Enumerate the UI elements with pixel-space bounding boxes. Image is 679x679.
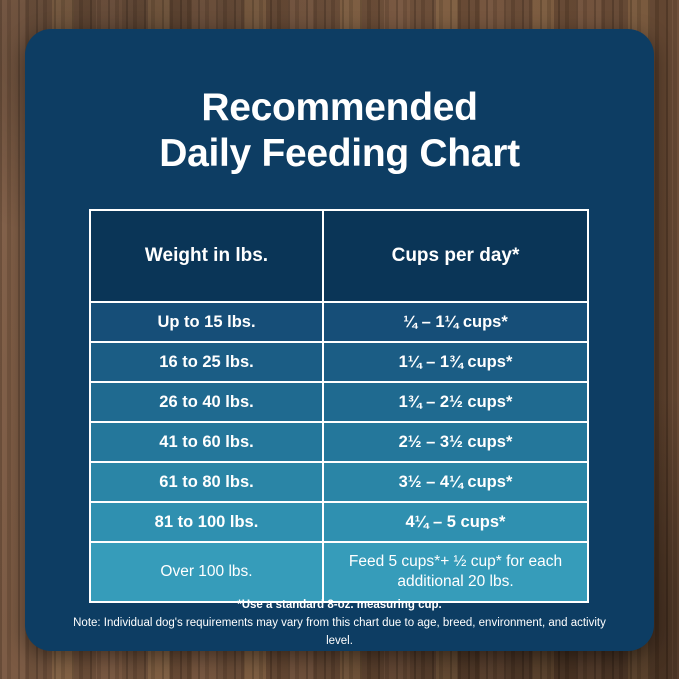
footnote-variation: Note: Individual dog's requirements may … [63,615,616,651]
column-header-weight: Weight in lbs. [91,211,324,303]
feeding-chart-card: Recommended Daily Feeding Chart Weight i… [25,29,654,651]
table-row: Over 100 lbs. Feed 5 cups*+ ½ cup* for e… [91,543,587,601]
cell-cups: ¼ – 1¼ cups* [324,303,587,343]
footnotes: *Use a standard 8-oz. measuring cup. Not… [63,597,616,651]
table-row: 61 to 80 lbs. 3½ – 4¼ cups* [91,463,587,503]
cell-cups: 3½ – 4¼ cups* [324,463,587,503]
cell-cups: 1¾ – 2½ cups* [324,383,587,423]
feeding-table: Weight in lbs. Cups per day* Up to 15 lb… [89,209,589,603]
footnote-measuring-cup: *Use a standard 8-oz. measuring cup. [63,597,616,615]
cell-cups: Feed 5 cups*+ ½ cup* for each additional… [324,543,587,601]
table-row: 16 to 25 lbs. 1¼ – 1¾ cups* [91,343,587,383]
cell-weight: Over 100 lbs. [91,543,324,601]
cell-weight: 41 to 60 lbs. [91,423,324,463]
footnote-veterinarian: Adjust food as required to maintain opti… [63,650,616,651]
table-row: 41 to 60 lbs. 2½ – 3½ cups* [91,423,587,463]
table-row: 26 to 40 lbs. 1¾ – 2½ cups* [91,383,587,423]
cell-weight: 61 to 80 lbs. [91,463,324,503]
title-line-1: Recommended [201,86,477,129]
cell-cups: 1¼ – 1¾ cups* [324,343,587,383]
table-row: Up to 15 lbs. ¼ – 1¼ cups* [91,303,587,343]
table-header-row: Weight in lbs. Cups per day* [91,211,587,303]
page-title: Recommended Daily Feeding Chart [25,85,654,176]
cell-weight: 16 to 25 lbs. [91,343,324,383]
title-line-2: Daily Feeding Chart [25,131,654,177]
table-row: 81 to 100 lbs. 4¼ – 5 cups* [91,503,587,543]
cell-cups: 4¼ – 5 cups* [324,503,587,543]
cell-cups: 2½ – 3½ cups* [324,423,587,463]
cell-weight: 26 to 40 lbs. [91,383,324,423]
cell-weight: Up to 15 lbs. [91,303,324,343]
cell-weight: 81 to 100 lbs. [91,503,324,543]
column-header-cups: Cups per day* [324,211,587,303]
